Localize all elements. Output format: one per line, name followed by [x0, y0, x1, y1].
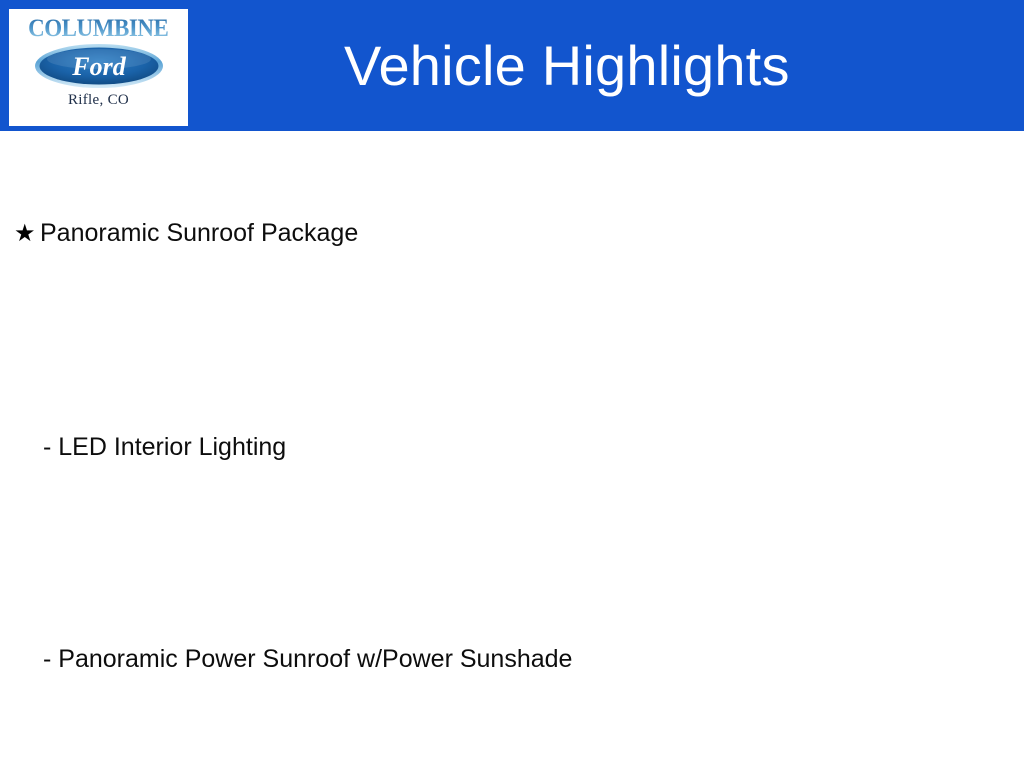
logo-location-text: Rifle, CO — [68, 92, 129, 109]
logo-brand-top-text: COLUMBINE — [28, 16, 168, 41]
highlight-bullet-row: ★ Panoramic Sunroof Package — [14, 221, 358, 246]
star-bullet-icon: ★ — [14, 222, 40, 246]
svg-text:Ford: Ford — [71, 52, 126, 81]
highlight-bullet-label: Panoramic Sunroof Package — [40, 221, 358, 246]
ford-oval-icon: Ford — [34, 42, 164, 90]
slide-content: ★ Panoramic Sunroof Package - LED Interi… — [0, 131, 1024, 768]
highlight-sub-item: - LED Interior Lighting — [43, 435, 286, 460]
highlight-sub-item: - Panoramic Power Sunroof w/Power Sunsha… — [43, 647, 572, 672]
page-title: Vehicle Highlights — [344, 27, 790, 105]
dealership-logo: COLUMBINE Ford Rifle, CO — [9, 9, 188, 126]
